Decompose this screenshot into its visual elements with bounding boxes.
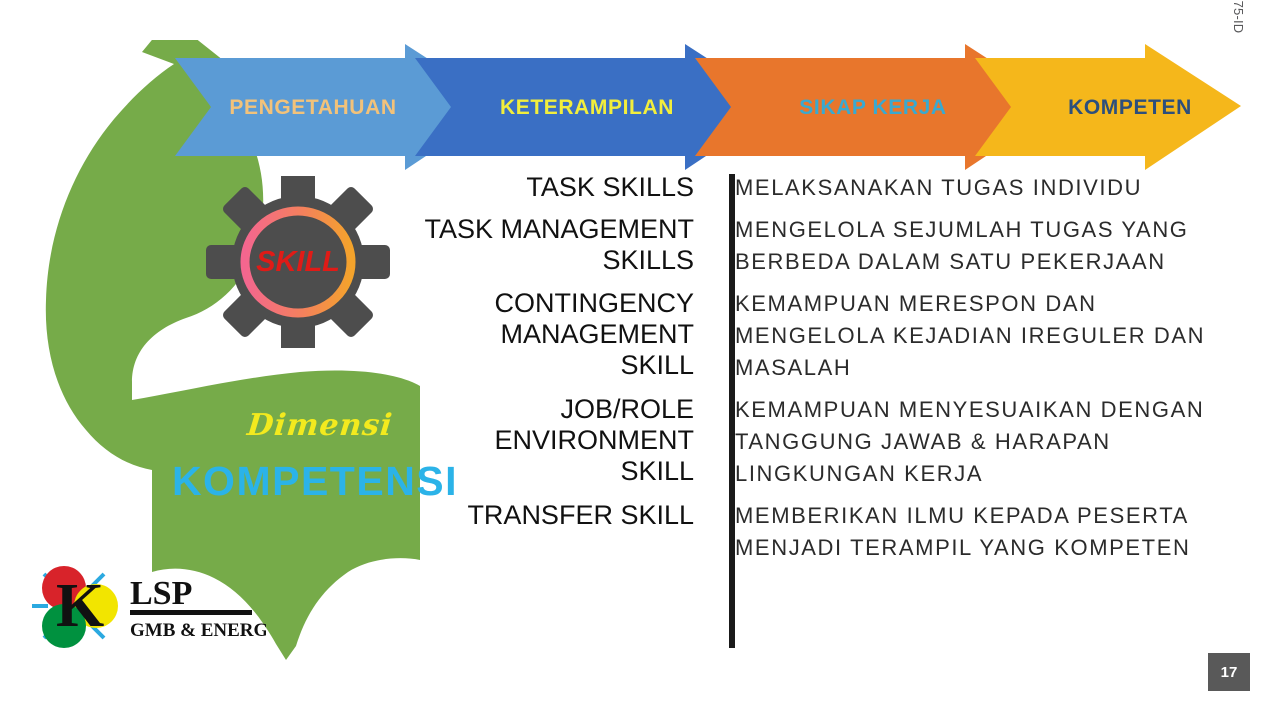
logo-subtitle: GMB & ENERGI <box>130 620 266 641</box>
slide-canvas: LSP GMBE Lisensi BNSP No. 1375-ID <box>0 0 1268 713</box>
skill-description: MENGELOLA SEJUMLAH TUGAS YANG BERBEDA DA… <box>712 214 1210 278</box>
skill-name: TASK SKILLS <box>420 172 712 203</box>
skill-description: MELAKSANAKAN TUGAS INDIVIDU <box>712 172 1210 204</box>
skill-name: JOB/ROLE ENVIRONMENT SKILL <box>420 394 712 487</box>
skill-description: KEMAMPUAN MERESPON DAN MENGELOLA KEJADIA… <box>712 288 1210 384</box>
side-caption: LSP GMBE Lisensi BNSP No. 1375-ID <box>1224 0 1246 4</box>
arrow-label-2: KETERAMPILAN <box>500 96 674 119</box>
arrow-label-3: SIKAP KERJA <box>799 96 946 119</box>
gear-center-label: SKILL <box>256 246 340 278</box>
table-row: CONTINGENCY MANAGEMENT SKILL KEMAMPUAN M… <box>420 288 1210 384</box>
lsp-logo: K LSP GMB & ENERGI <box>26 556 266 652</box>
skills-table: TASK SKILLS MELAKSANAKAN TUGAS INDIVIDU … <box>420 172 1210 574</box>
table-row: TRANSFER SKILL MEMBERIKAN ILMU KEPADA PE… <box>420 500 1210 564</box>
table-row: TASK SKILLS MELAKSANAKAN TUGAS INDIVIDU <box>420 172 1210 204</box>
arrow-label-4: KOMPETEN <box>1068 96 1192 119</box>
table-row: TASK MANAGEMENT SKILLS MENGELOLA SEJUMLA… <box>420 214 1210 278</box>
skill-gear-graphic: SKILL <box>192 176 404 348</box>
logo-rule <box>130 610 252 615</box>
skill-name: TASK MANAGEMENT SKILLS <box>420 214 712 276</box>
logo-name: LSP <box>130 575 192 612</box>
skill-name: CONTINGENCY MANAGEMENT SKILL <box>420 288 712 381</box>
table-row: JOB/ROLE ENVIRONMENT SKILL KEMAMPUAN MEN… <box>420 394 1210 490</box>
page-number-badge: 17 <box>1208 653 1250 691</box>
skill-description: KEMAMPUAN MENYESUAIKAN DENGAN TANGGUNG J… <box>712 394 1210 490</box>
process-arrow-banner: PENGETAHUAN KETERAMPILAN SIKAP KERJA KOM… <box>175 44 1241 174</box>
logo-letter: K <box>56 572 104 640</box>
skill-name: TRANSFER SKILL <box>420 500 712 531</box>
skill-description: MEMBERIKAN ILMU KEPADA PESERTA MENJADI T… <box>712 500 1210 564</box>
arrow-label-1: PENGETAHUAN <box>229 96 396 119</box>
